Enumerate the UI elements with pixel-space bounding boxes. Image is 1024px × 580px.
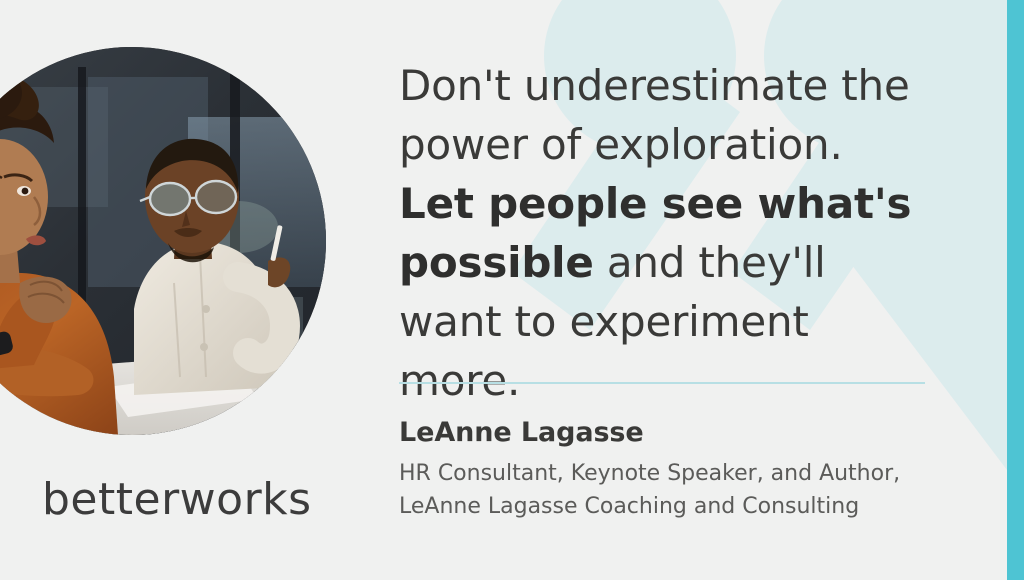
author-title-line-1: HR Consultant, Keynote Speaker, and Auth… — [399, 461, 900, 486]
quote-text: Don't underestimate the power of explora… — [399, 56, 929, 410]
attribution-block: LeAnne Lagasse HR Consultant, Keynote Sp… — [399, 415, 939, 523]
quote-card: betterworks Don't underestimate the powe… — [0, 0, 1024, 580]
author-title: HR Consultant, Keynote Speaker, and Auth… — [399, 457, 939, 523]
betterworks-logo: betterworks — [42, 478, 312, 522]
author-title-line-2: LeAnne Lagasse Coaching and Consulting — [399, 494, 859, 519]
quote-bold-1: Let people see what's — [399, 179, 911, 228]
divider — [399, 382, 925, 384]
speaker-photo — [0, 47, 326, 435]
author-name: LeAnne Lagasse — [399, 415, 939, 450]
accent-bar — [1007, 0, 1024, 580]
quote-block: Don't underestimate the power of explora… — [399, 56, 929, 410]
quote-line-2: power of exploration. — [399, 120, 843, 169]
quote-line-1: Don't underestimate the — [399, 61, 910, 110]
quote-bold-2: possible — [399, 238, 594, 287]
